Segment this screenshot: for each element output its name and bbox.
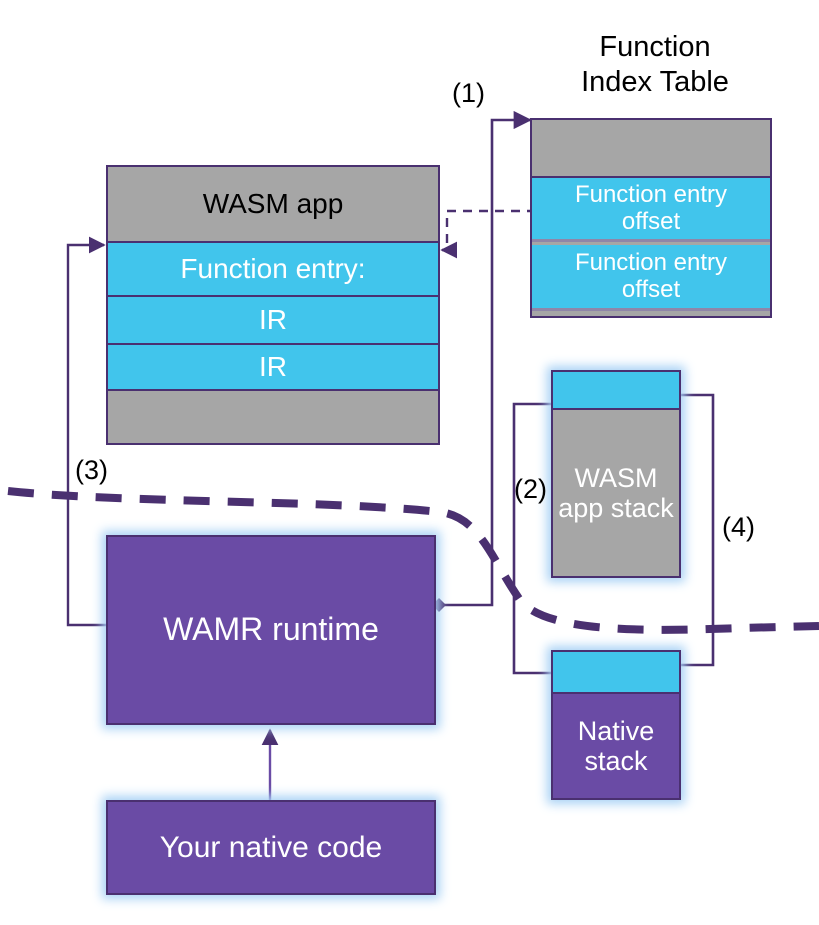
diagram-canvas: Function Index Table Function entry offs… — [0, 0, 819, 925]
boundary-layer — [0, 0, 819, 925]
step-label-4: (4) — [722, 512, 755, 543]
step-label-3: (3) — [75, 455, 108, 486]
step-label-1: (1) — [452, 78, 485, 109]
step-label-2: (2) — [514, 474, 547, 505]
runtime-boundary-dashed-line — [8, 491, 819, 630]
